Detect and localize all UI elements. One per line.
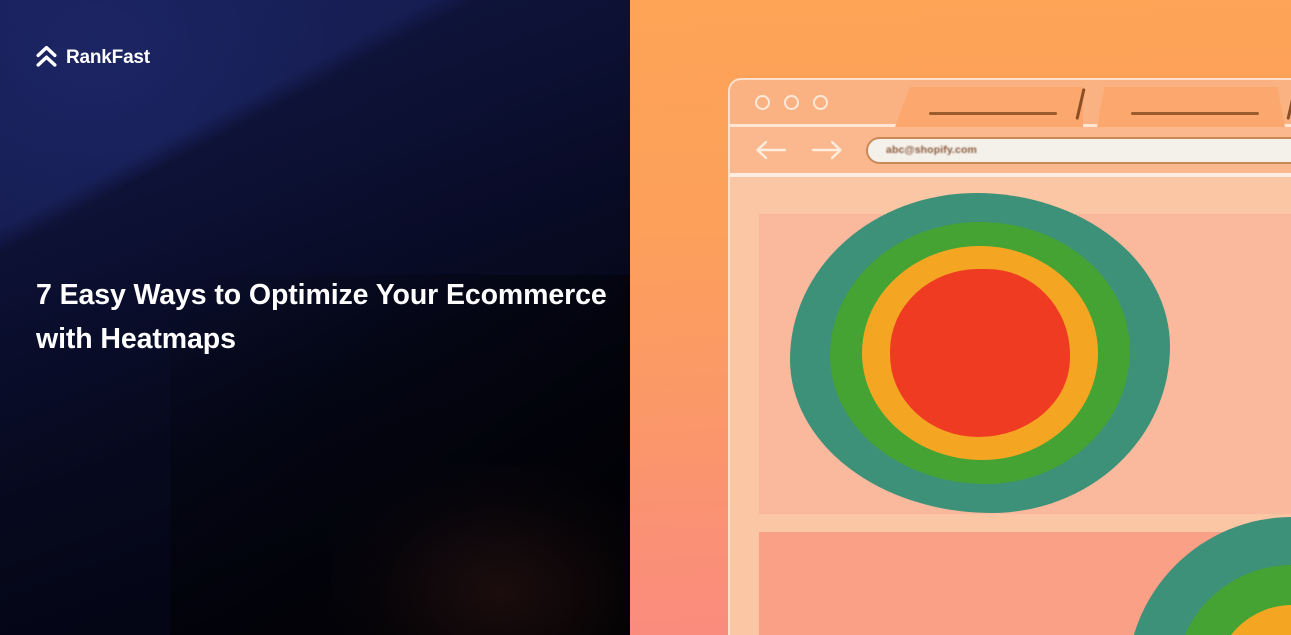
browser-tab-1[interactable]	[895, 87, 1083, 127]
browser-tab-2[interactable]	[1097, 87, 1285, 127]
right-illustration-panel: abc@shopify.com	[630, 0, 1291, 635]
address-bar[interactable]: abc@shopify.com	[866, 137, 1291, 164]
browser-viewport	[730, 177, 1291, 635]
arrow-right-icon[interactable]	[810, 138, 844, 162]
browser-tab-strip	[895, 87, 1285, 127]
heatmap-blob-main	[790, 193, 1170, 513]
maximize-dot-icon[interactable]	[813, 95, 828, 110]
browser-titlebar	[730, 80, 1291, 127]
heatmap-blob-corner	[1127, 517, 1291, 635]
browser-window-mock: abc@shopify.com	[728, 78, 1291, 635]
left-text-panel: RankFast 7 Easy Ways to Optimize Your Ec…	[0, 0, 630, 635]
window-controls	[755, 95, 828, 110]
promo-banner: RankFast 7 Easy Ways to Optimize Your Ec…	[0, 0, 1291, 635]
minimize-dot-icon[interactable]	[784, 95, 799, 110]
brand-name: RankFast	[66, 48, 150, 67]
browser-navbar: abc@shopify.com	[730, 127, 1291, 177]
brand-logo[interactable]: RankFast	[36, 45, 150, 69]
tab-separator-icon	[1286, 88, 1291, 120]
tab-title-placeholder	[1131, 112, 1259, 115]
address-bar-value: abc@shopify.com	[886, 144, 977, 156]
nav-arrow-group	[754, 138, 844, 162]
close-dot-icon[interactable]	[755, 95, 770, 110]
background-warm-tint	[330, 465, 630, 635]
tab-title-placeholder	[929, 112, 1057, 115]
double-chevron-up-icon	[36, 45, 57, 69]
arrow-left-icon[interactable]	[754, 138, 788, 162]
page-title: 7 Easy Ways to Optimize Your Ecommerce w…	[36, 274, 630, 362]
heatmap-ring-red	[890, 269, 1070, 437]
